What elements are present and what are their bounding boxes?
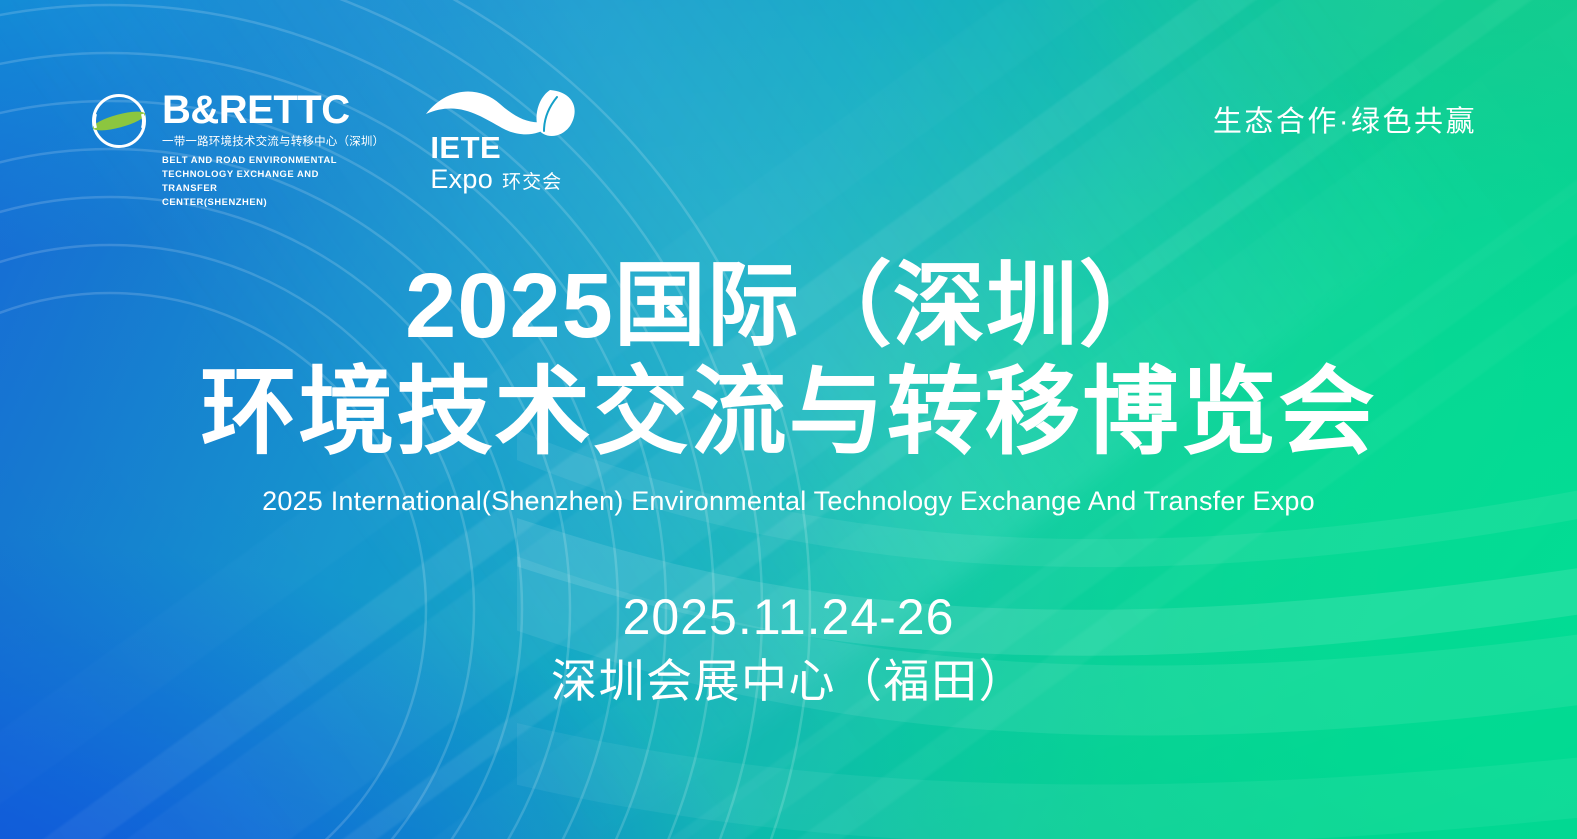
banner-header: B&RETTC 一带一路环境技术交流与转移中心（深圳） BELT AND ROA… [88,84,1477,209]
iete-expo-logo[interactable]: IETE Expo 环交会 [424,84,584,192]
iete-subline: Expo 环交会 [430,166,562,193]
brettc-text-block: B&RETTC 一带一路环境技术交流与转移中心（深圳） BELT AND ROA… [162,88,384,209]
iete-expo-word: Expo [430,166,493,193]
iete-acronym: IETE [430,132,562,163]
event-title-line2: 环境技术交流与转移博览会 [0,362,1577,464]
iete-wordmark-block: IETE Expo 环交会 [430,132,562,193]
brettc-name-en-line2: TECHNOLOGY EXCHANGE AND TRANSFER [162,167,374,195]
event-tagline: 生态合作·绿色共赢 [1213,84,1477,137]
logo-group: B&RETTC 一带一路环境技术交流与转移中心（深圳） BELT AND ROA… [88,84,584,209]
banner-main: 2025国际（深圳） 环境技术交流与转移博览会 2025 Internation… [0,258,1577,708]
event-venue: 深圳会展中心（福田） [0,655,1577,708]
brettc-name-en-line3: CENTER(SHENZHEN) [162,195,374,209]
brettc-name-cn: 一带一路环境技术交流与转移中心（深圳） [162,135,384,151]
iete-expo-cn: 环交会 [502,173,562,192]
event-subtitle-en: 2025 International(Shenzhen) Environment… [0,485,1577,517]
expo-banner: B&RETTC 一带一路环境技术交流与转移中心（深圳） BELT AND ROA… [0,0,1577,839]
brettc-name-en: BELT AND ROAD ENVIRONMENTAL TECHNOLOGY E… [162,153,374,209]
brettc-name-en-line1: BELT AND ROAD ENVIRONMENTAL [162,153,374,167]
banner-content: B&RETTC 一带一路环境技术交流与转移中心（深圳） BELT AND ROA… [0,0,1577,839]
event-date: 2025.11.24-26 [0,590,1577,645]
brettc-logo[interactable]: B&RETTC 一带一路环境技术交流与转移中心（深圳） BELT AND ROA… [88,84,384,209]
brettc-wordmark: B&RETTC [162,90,384,130]
event-title-line1: 2025国际（深圳） [0,258,1577,356]
globe-ellipse-icon [88,90,150,152]
